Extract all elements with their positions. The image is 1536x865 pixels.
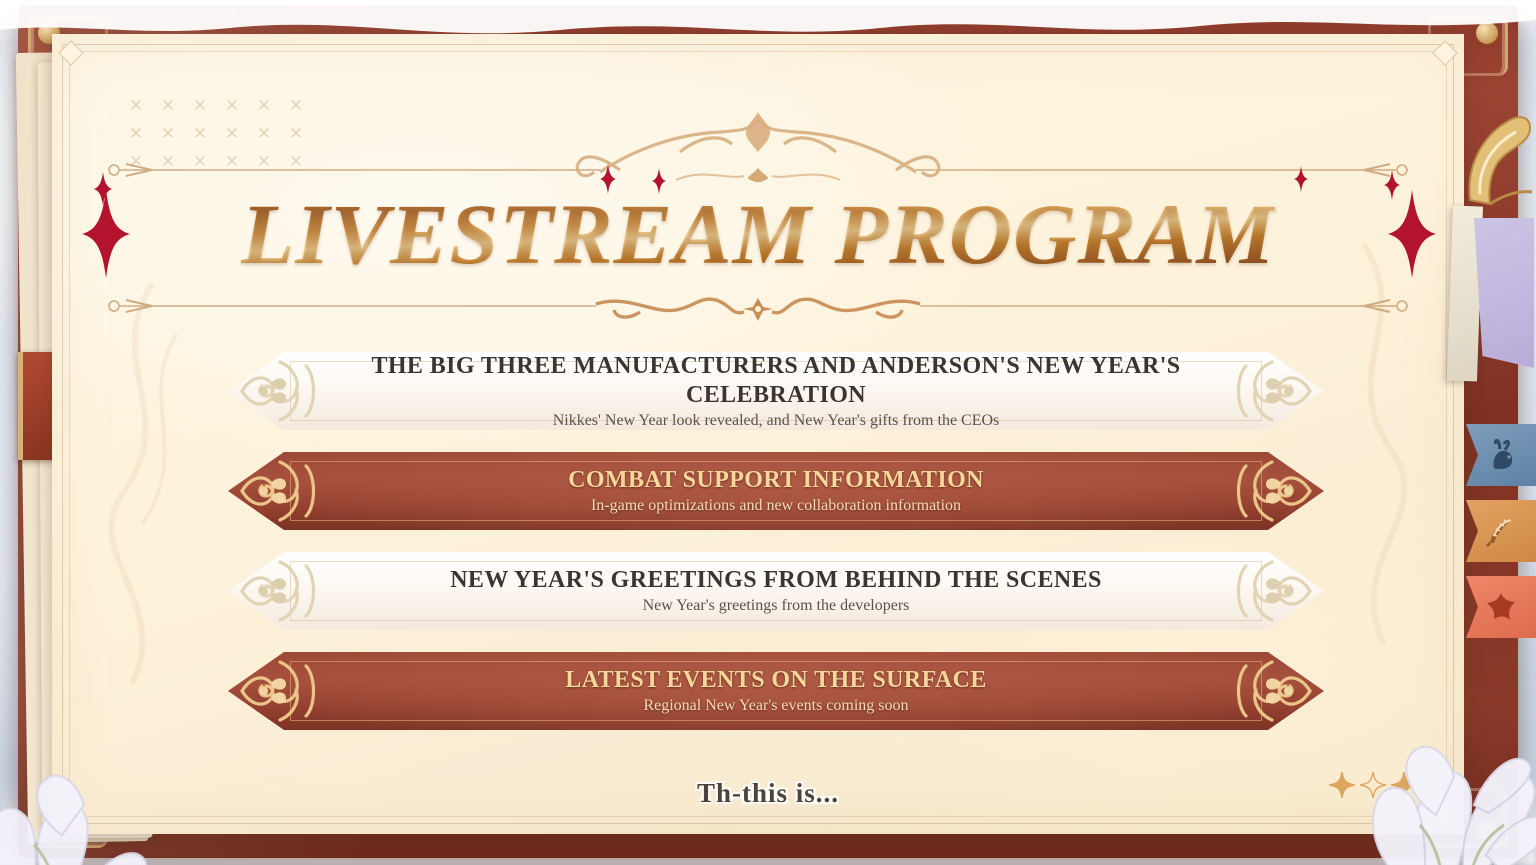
rabbit-tab[interactable] <box>1466 424 1536 486</box>
page-title: LIVESTREAM PROGRAM <box>241 182 1276 286</box>
sparkle-right-large <box>1388 190 1436 278</box>
bookmark-tab-strip <box>1462 424 1536 652</box>
program-menu-list: THE BIG THREE MANUFACTURERS AND ANDERSON… <box>228 352 1324 752</box>
star-icon <box>1484 590 1518 624</box>
title-flourish-top <box>80 110 1436 182</box>
menu-item-subtitle: New Year's greetings from the developers <box>324 595 1228 616</box>
star-tab[interactable] <box>1466 576 1536 638</box>
feather-tab[interactable] <box>1466 500 1536 562</box>
title-row: LIVESTREAM PROGRAM <box>80 182 1436 286</box>
dialogue-caption: Th-this is... <box>0 778 1536 809</box>
diamond-decor-row <box>1329 772 1448 803</box>
title-block: LIVESTREAM PROGRAM <box>80 110 1436 330</box>
paper-slip-purple[interactable] <box>1474 218 1534 368</box>
feather-icon <box>1484 514 1518 548</box>
menu-item-title: NEW YEAR'S GREETINGS FROM BEHIND THE SCE… <box>324 566 1228 595</box>
menu-item-title: LATEST EVENTS ON THE SURFACE <box>324 666 1228 695</box>
menu-item-title: THE BIG THREE MANUFACTURERS AND ANDERSON… <box>324 352 1228 410</box>
menu-item-text: THE BIG THREE MANUFACTURERS AND ANDERSON… <box>228 352 1324 431</box>
menu-item-subtitle: Regional New Year's events coming soon <box>324 695 1228 716</box>
menu-item-text: NEW YEAR'S GREETINGS FROM BEHIND THE SCE… <box>228 566 1324 616</box>
page-watermark <box>82 274 202 694</box>
menu-item-subtitle: Nikkes' New Year look revealed, and New … <box>324 410 1228 431</box>
diamond-decor-filled <box>1329 772 1355 803</box>
menu-item-text: LATEST EVENTS ON THE SURFACERegional New… <box>228 666 1324 716</box>
menu-item-subtitle: In-game optimizations and new collaborat… <box>324 495 1228 516</box>
rabbit-icon <box>1484 438 1518 472</box>
title-flourish-bottom <box>80 288 1436 330</box>
sparkle-left-large <box>82 190 130 278</box>
menu-item-latest-events-surface[interactable]: LATEST EVENTS ON THE SURFACERegional New… <box>228 652 1324 730</box>
menu-item-new-years-greetings[interactable]: NEW YEAR'S GREETINGS FROM BEHIND THE SCE… <box>228 552 1324 630</box>
menu-item-big-three-manufacturers[interactable]: THE BIG THREE MANUFACTURERS AND ANDERSON… <box>228 352 1324 430</box>
menu-item-title: COMBAT SUPPORT INFORMATION <box>324 466 1228 495</box>
gold-lily-ornament <box>1460 104 1534 219</box>
snow-ridge-top <box>0 0 1536 48</box>
diamond-decor-outline <box>1360 772 1386 803</box>
menu-item-combat-support-information[interactable]: COMBAT SUPPORT INFORMATIONIn-game optimi… <box>228 452 1324 530</box>
diamond-decor-filled <box>1391 772 1417 803</box>
menu-item-text: COMBAT SUPPORT INFORMATIONIn-game optimi… <box>228 466 1324 516</box>
game-scene: ✕✕✕✕✕✕✕✕✕✕✕✕✕✕✕✕✕✕ <box>0 0 1536 865</box>
diamond-decor-outline <box>1422 772 1448 803</box>
